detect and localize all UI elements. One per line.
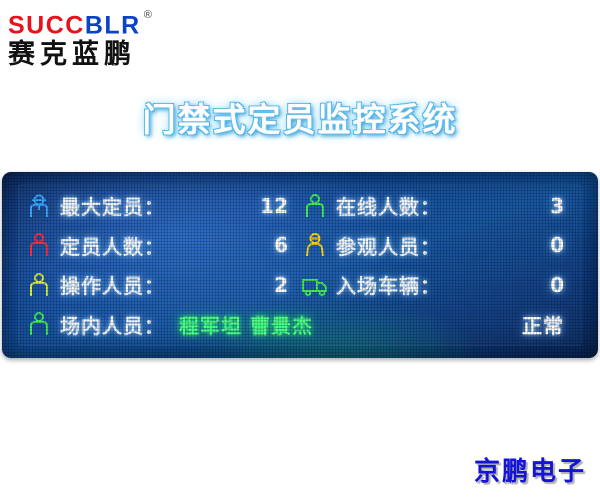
led-cell-online-count: 在线人数： 3	[300, 191, 576, 221]
status-badge: 正常	[522, 310, 576, 339]
led-cell-vehicles: 入场车辆： 0	[300, 270, 576, 300]
footer-company-logo: 京鹏电子	[474, 451, 586, 488]
led-value: 12	[260, 194, 300, 218]
led-cell-staff-count: 定员人数： 6	[24, 230, 300, 260]
led-cell-max-capacity: 最大定员： 12	[24, 191, 300, 221]
registered-trademark-icon: ®	[144, 2, 152, 28]
person-helmet-icon	[24, 191, 54, 221]
led-row-onsite-personnel: 场内人员： 程军坦 曹景杰 正常	[18, 306, 582, 342]
led-value: 0	[550, 233, 576, 257]
brand-chinese-name: 赛克蓝鹏	[8, 40, 218, 70]
led-row: 定员人数： 6 参观人员： 0	[18, 227, 582, 263]
led-label: 入场车辆：	[336, 270, 441, 299]
led-display-panel: 最大定员： 12 在线人数： 3	[2, 172, 598, 358]
led-onsite-names: 程军坦 曹景杰	[179, 310, 313, 339]
page-title: 门禁式定员监控系统	[0, 93, 600, 141]
led-screen: 最大定员： 12 在线人数： 3	[18, 184, 582, 346]
person-visitor-icon	[300, 230, 330, 260]
brand-wordmark: SUCCBLR®	[8, 8, 218, 38]
led-value: 0	[550, 273, 576, 297]
led-label: 最大定员：	[60, 191, 165, 220]
led-label: 操作人员：	[60, 270, 165, 299]
led-label: 定员人数：	[60, 231, 165, 260]
led-row: 最大定员： 12 在线人数： 3	[18, 188, 582, 224]
led-cell-visitors: 参观人员： 0	[300, 230, 576, 260]
brand-logo: SUCCBLR® 赛克蓝鹏	[8, 8, 218, 70]
truck-icon	[300, 270, 330, 300]
brand-wordmark-blue: BLR	[85, 11, 141, 39]
led-value: 2	[274, 273, 300, 297]
led-cell-onsite-personnel: 场内人员： 程军坦 曹景杰 正常	[24, 309, 576, 339]
led-value: 6	[274, 233, 300, 257]
person-yellow-icon	[24, 270, 54, 300]
led-label: 参观人员：	[336, 231, 441, 260]
led-rows: 最大定员： 12 在线人数： 3	[18, 184, 582, 346]
brand-wordmark-red: SUCC	[8, 11, 85, 39]
led-label: 场内人员：	[60, 310, 165, 339]
led-value: 3	[550, 194, 576, 218]
person-red-icon	[24, 230, 54, 260]
led-cell-operators: 操作人员： 2	[24, 270, 300, 300]
person-green-icon	[300, 191, 330, 221]
person-onsite-icon	[24, 309, 54, 339]
led-row: 操作人员： 2 入场车辆：	[18, 267, 582, 303]
led-label: 在线人数：	[336, 191, 441, 220]
